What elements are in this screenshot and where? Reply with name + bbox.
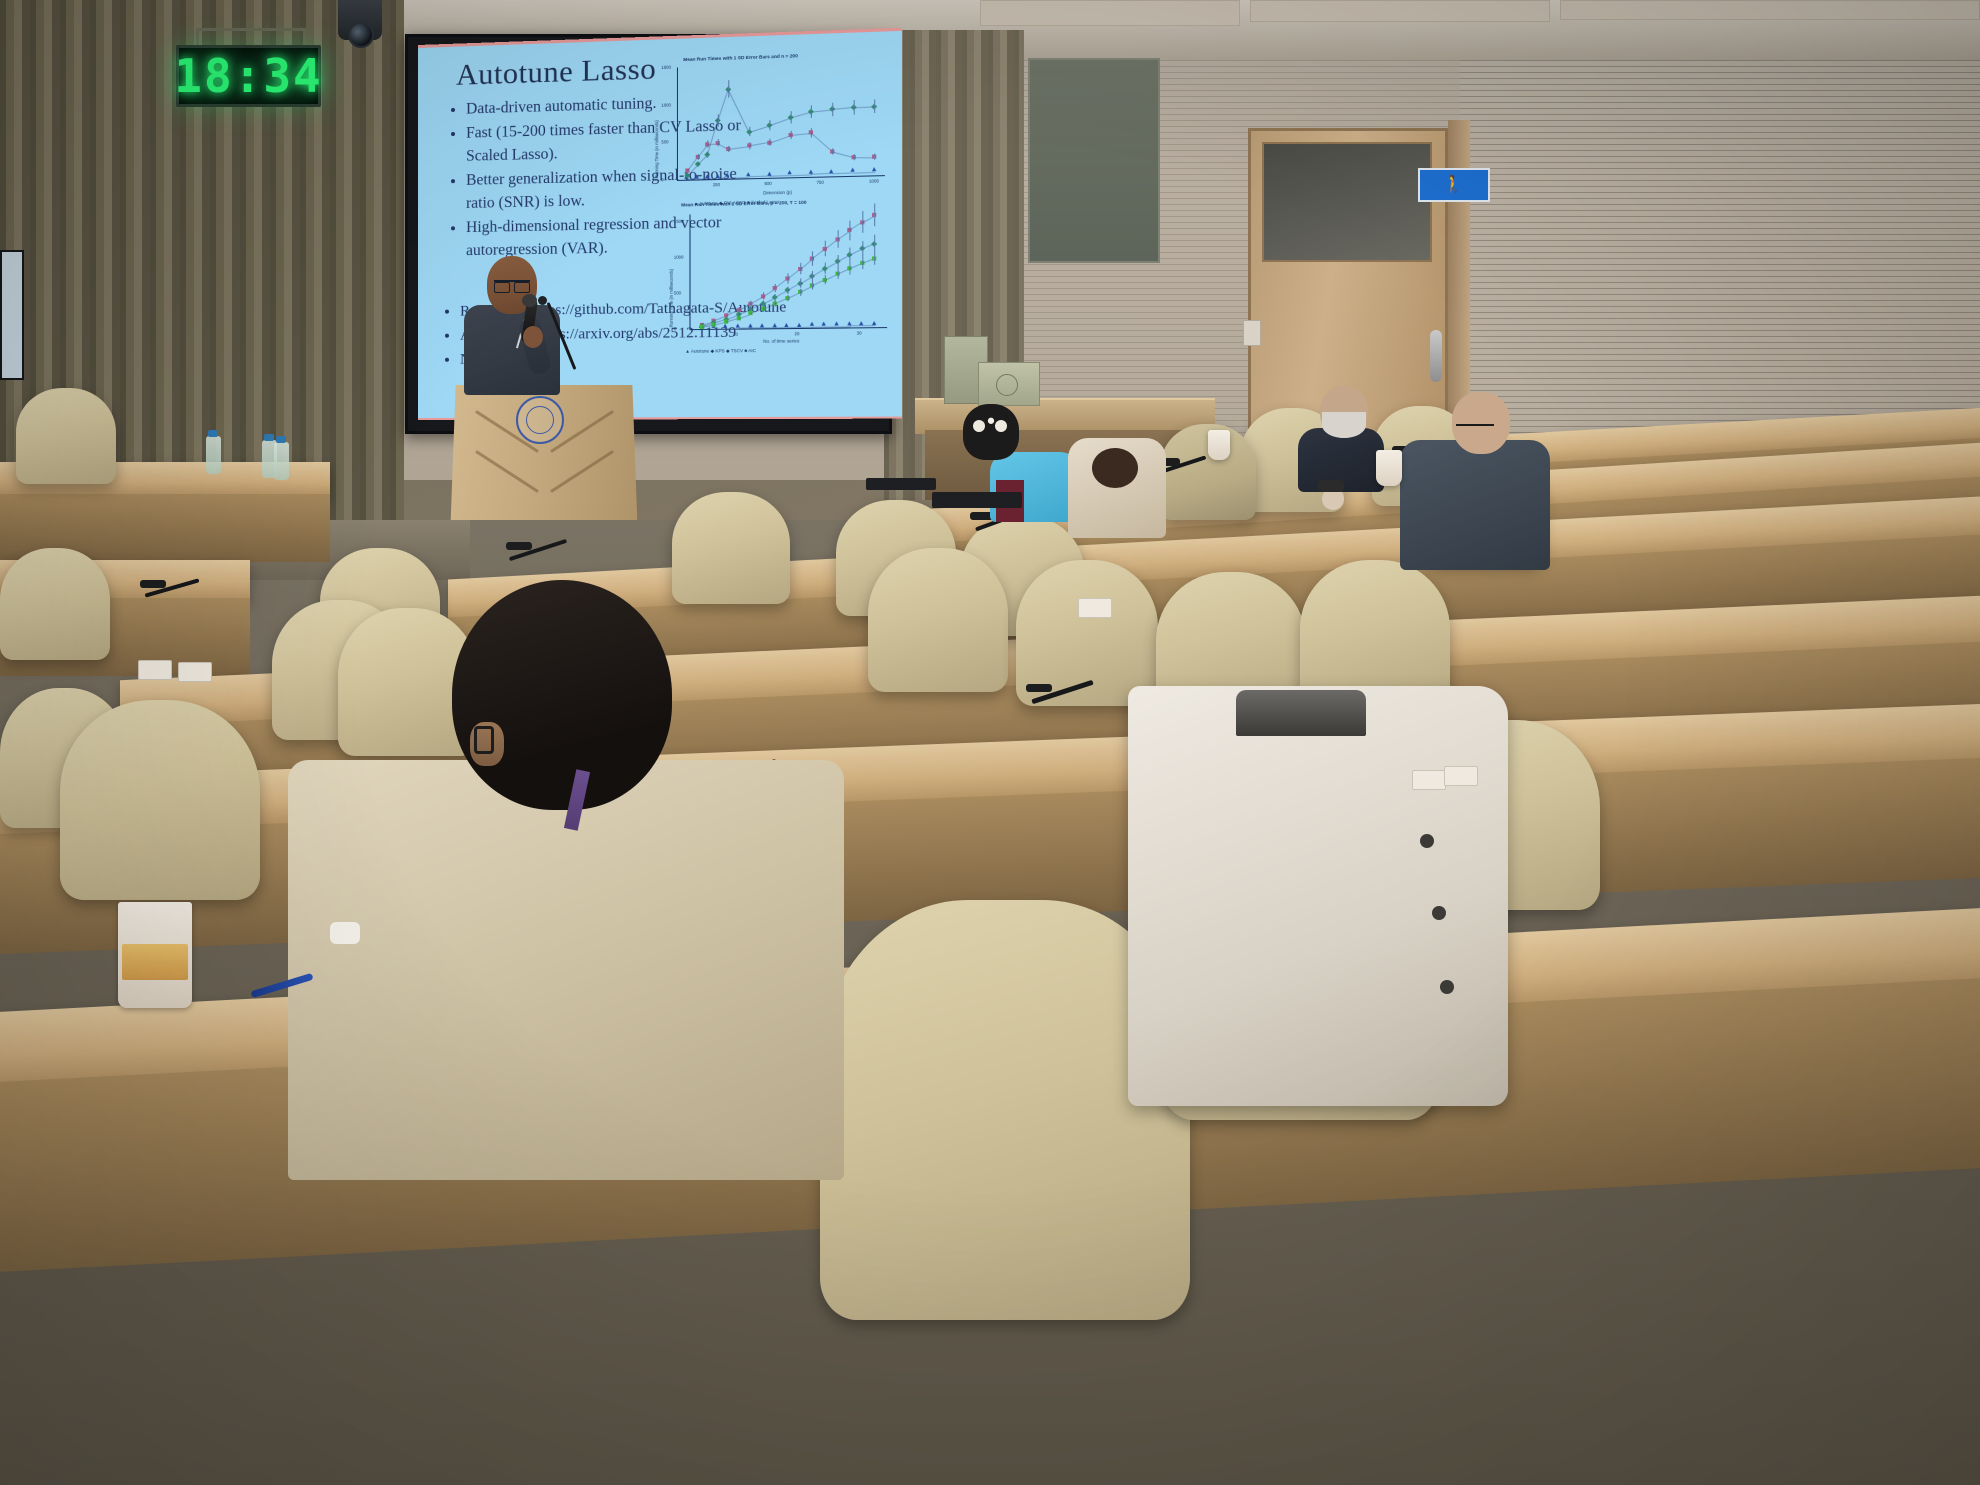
power-outlet[interactable] — [1412, 770, 1446, 790]
chart2-series-line — [800, 327, 812, 328]
running-person-icon: 🚶 — [1443, 175, 1465, 195]
chart2-xtick: 20 — [794, 331, 799, 336]
chart2-error-bar — [875, 204, 876, 226]
chart2-point-autotune — [822, 322, 826, 326]
ceiling-panel-1 — [980, 0, 1240, 26]
chart2-y-axis — [689, 214, 690, 329]
chart1-series-line — [832, 172, 853, 174]
chart2-series-line — [787, 327, 799, 328]
chart1-error-bar — [874, 154, 875, 160]
chart2-legend-label-3: AIC — [748, 348, 756, 353]
paper-cup[interactable] — [1208, 430, 1230, 460]
chart2-series-line — [714, 328, 726, 329]
chart2-point-autotune — [797, 322, 801, 326]
crumpled-tissue — [330, 922, 360, 944]
chart2-point-autotune — [809, 322, 813, 326]
audience-person-head — [1092, 448, 1138, 488]
chart1-ylabel: Running Time (in milliseconds) — [654, 120, 659, 178]
chart2-legend-label-2: TSCV — [731, 348, 743, 353]
slide-chart-timeseries-runtime: Mean Run Times with 1 SD Error Bars, p =… — [662, 198, 902, 358]
chart1-series-line — [853, 172, 874, 174]
glasses — [1456, 424, 1494, 434]
chart2-error-bar — [875, 251, 876, 265]
chart1-xtick: 750 — [816, 180, 823, 185]
chart2-xlabel: No. of time series — [763, 338, 799, 344]
chart1-series-line — [811, 109, 832, 112]
chart1-ytick: 0 — [661, 177, 663, 182]
chart1-series-line — [811, 173, 832, 175]
chart2-legend-marker-autotune: ▲ — [685, 349, 690, 354]
side-screen — [0, 250, 24, 380]
chair[interactable] — [868, 548, 1008, 692]
chart1-series-line — [717, 90, 728, 121]
chart1-series-line — [728, 89, 750, 132]
jacket-button — [1420, 834, 1434, 848]
water-bottle[interactable] — [206, 436, 221, 474]
chart1-point-autotune — [726, 173, 730, 177]
wall-art-panel — [1028, 58, 1160, 263]
ceiling-panel-2 — [1250, 0, 1550, 22]
chart2-xtick: 30 — [857, 330, 862, 335]
exit-sign: 🚶 — [1418, 168, 1490, 202]
glasses — [474, 726, 494, 754]
paper-cup-pattern — [122, 944, 188, 980]
chart1-xtick: 250 — [713, 182, 720, 187]
power-outlet[interactable] — [138, 660, 172, 680]
chart1-title: Mean Run Times with 1 SD Error Bars and … — [683, 53, 798, 62]
chart2-series-line — [825, 326, 837, 327]
jacket-button — [1432, 906, 1446, 920]
door-window — [1262, 142, 1432, 262]
bottle-cap — [276, 436, 286, 443]
chart1-error-bar — [874, 99, 875, 113]
chart1-ytick: 1500 — [661, 65, 671, 70]
chart2-ytick: 500 — [674, 290, 681, 295]
laptop[interactable] — [932, 492, 1022, 508]
clock-mount-bracket — [196, 28, 306, 46]
chart2-legend-marker-kps: ◆ — [711, 348, 715, 353]
water-bottle[interactable] — [274, 442, 289, 480]
chart1-ytick: 500 — [661, 140, 668, 145]
audience-person-body — [1400, 440, 1550, 570]
box-stamp-icon — [996, 374, 1018, 396]
wristwatch — [1318, 480, 1344, 492]
digital-clock: 18:34 — [176, 45, 321, 107]
chair[interactable] — [672, 492, 790, 604]
knit-hat — [963, 404, 1019, 460]
power-outlet[interactable] — [1078, 598, 1112, 618]
chart2-series-line — [812, 326, 824, 327]
chart1-ytick: 1000 — [661, 102, 671, 107]
chair[interactable] — [60, 700, 260, 900]
ceiling-panel-3 — [1560, 0, 1980, 20]
chair[interactable] — [0, 548, 110, 660]
slide-title: Autotune Lasso — [456, 52, 656, 93]
ribbed-wall-far-right — [1460, 0, 1980, 480]
jacket-on-chair[interactable] — [1128, 686, 1508, 1106]
chart1-series-line — [769, 118, 790, 126]
chart1-xtick: 500 — [764, 181, 771, 186]
speaker-hand — [523, 326, 543, 348]
chart2-xtick: 10 — [733, 332, 738, 337]
microphone-head-icon — [522, 294, 537, 307]
chart1-point-autotune — [872, 167, 876, 171]
notebook — [866, 478, 936, 490]
chart1-y-axis — [677, 67, 678, 180]
chart2-point-autotune — [834, 321, 838, 325]
bottle-cap — [208, 430, 218, 437]
chair[interactable] — [16, 388, 116, 484]
chart2-ytick: 1000 — [674, 255, 684, 260]
chart2-legend-label-1: KPS — [715, 348, 724, 353]
power-outlet[interactable] — [178, 662, 212, 682]
chart2-ylabel: Running Time (in milliseconds) — [669, 269, 674, 327]
paper-cup[interactable] — [1376, 450, 1402, 486]
chart2-ytick: 0 — [674, 326, 676, 331]
chart1-series-line — [790, 174, 811, 176]
clock-time-display: 18:34 — [174, 49, 322, 103]
chart1-point-autotune — [850, 168, 854, 172]
jacket-button — [1440, 980, 1454, 994]
chart2-point-autotune — [723, 324, 727, 328]
slide-chart-dimension-runtime: Mean Run Times with 1 SD Error Bars and … — [646, 50, 898, 209]
chart2-point-autotune — [872, 321, 876, 325]
knit-hat-pattern — [973, 420, 985, 432]
chart2-legend-label-0: Autotune — [691, 348, 709, 353]
chart2-series-line — [837, 326, 849, 327]
camera-lens-icon — [348, 22, 374, 48]
audience-person-head — [1452, 392, 1510, 454]
jacket-collar — [1236, 690, 1366, 736]
bottle-cap — [264, 434, 274, 441]
chart2-series-line — [726, 328, 738, 329]
power-outlet[interactable] — [1444, 766, 1478, 786]
chart2-legend: ▲ Autotune ◆ KPS ◆ TSCV ■ AIC — [685, 348, 756, 355]
chart2-ytick: 1500 — [674, 219, 684, 224]
chart2-error-bar — [875, 235, 876, 252]
chart2-legend-marker-tscv: ◆ — [726, 348, 730, 353]
speaker-glasses — [494, 280, 530, 289]
light-switch[interactable] — [1243, 320, 1261, 346]
lecture-hall-scene: 18:34 Autotune Lasso Data-driven automat… — [0, 0, 1980, 1485]
podium-emblem-inner — [526, 406, 554, 434]
knit-hat-pattern — [995, 420, 1007, 432]
chart1-xlabel: Dimension (p) — [763, 190, 792, 196]
foreground-person-head — [452, 580, 672, 810]
chart1-point-autotune — [788, 170, 792, 174]
chart1-xtick: 1000 — [869, 178, 879, 183]
chart2-legend-marker-aic: ■ — [744, 348, 747, 353]
door-handle[interactable] — [1430, 330, 1442, 382]
beard — [1322, 412, 1366, 438]
chart1-series-line — [707, 121, 718, 155]
